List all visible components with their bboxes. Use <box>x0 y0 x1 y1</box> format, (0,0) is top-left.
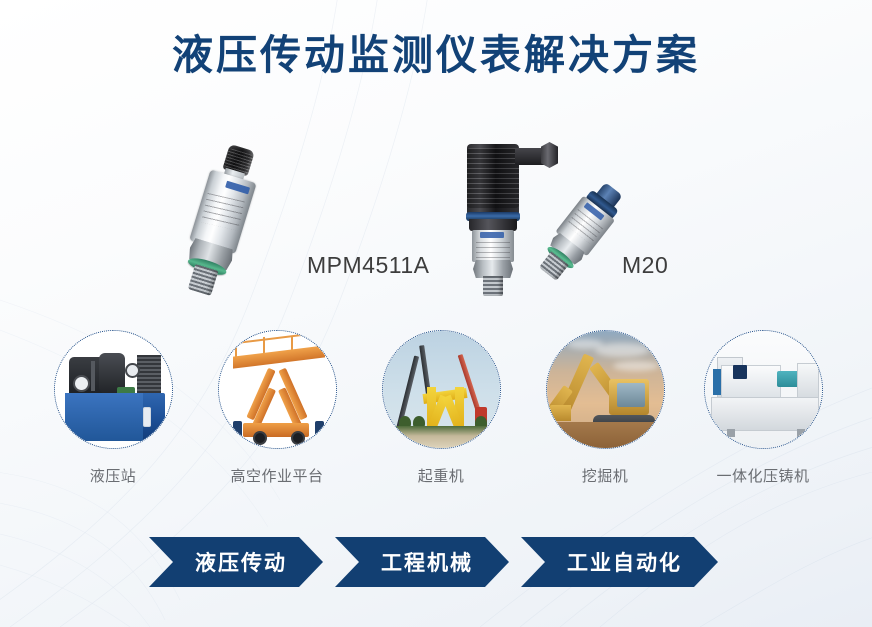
din-brand-sticker <box>480 232 504 238</box>
chevron-industrial-automation[interactable]: 工业自动化 <box>521 537 718 587</box>
chevron-construction-machinery[interactable]: 工程机械 <box>335 537 509 587</box>
app-item-excavator[interactable]: 挖掘机 <box>540 330 670 486</box>
app-label-die-casting-machine: 一体化压铸机 <box>698 465 828 486</box>
die-casting-machine-photo <box>705 331 822 448</box>
app-label-aerial-work-platform: 高空作业平台 <box>212 465 342 486</box>
scissor-lift-photo <box>219 331 336 448</box>
tilted-sensor-graphic <box>518 165 655 306</box>
app-item-crane[interactable]: 起重机 <box>376 330 506 486</box>
chevron-banner-row: 液压传动 工程机械 工业自动化 <box>149 537 718 587</box>
din-connector-nut <box>541 142 558 168</box>
product-showcase: MPM4511A M20 <box>0 112 872 302</box>
app-circle-aerial-work-platform <box>218 330 337 449</box>
app-item-die-casting-machine[interactable]: 一体化压铸机 <box>698 330 828 486</box>
din-thread <box>483 276 503 296</box>
product-label-mpm4511a: MPM4511A <box>307 252 429 279</box>
app-circle-crane <box>382 330 501 449</box>
din-connector-ribs <box>467 148 519 208</box>
background-texture <box>0 0 872 627</box>
sensor-thread <box>188 264 219 296</box>
hydraulic-power-unit-photo <box>55 331 172 448</box>
chevron-label-industrial-automation: 工业自动化 <box>567 547 682 577</box>
page-title-wrapper: 液压传动监测仪表解决方案 <box>0 30 872 81</box>
app-label-excavator: 挖掘机 <box>540 465 670 486</box>
excavator-photo <box>547 331 664 448</box>
chevron-label-hydraulic-transmission: 液压传动 <box>195 547 287 577</box>
chevron-hydraulic-transmission[interactable]: 液压传动 <box>149 537 323 587</box>
chevron-label-construction-machinery: 工程机械 <box>381 547 473 577</box>
din-label-print <box>476 242 510 258</box>
product-label-m20: M20 <box>622 252 668 279</box>
crane-photo <box>383 331 500 448</box>
application-list: 液压站 <box>0 330 872 495</box>
app-label-crane: 起重机 <box>376 465 506 486</box>
app-label-hydraulic-station: 液压站 <box>48 465 178 486</box>
app-item-aerial-work-platform[interactable]: 高空作业平台 <box>212 330 342 486</box>
app-circle-die-casting-machine <box>704 330 823 449</box>
page-title: 液压传动监测仪表解决方案 <box>0 30 872 81</box>
banner-page: 液压传动监测仪表解决方案 MPM4511A <box>0 0 872 627</box>
app-item-hydraulic-station[interactable]: 液压站 <box>48 330 178 486</box>
app-circle-hydraulic-station <box>54 330 173 449</box>
mpm4511a-sensor-image <box>205 130 315 290</box>
app-circle-excavator <box>546 330 665 449</box>
m20-sensor-image <box>455 122 635 297</box>
